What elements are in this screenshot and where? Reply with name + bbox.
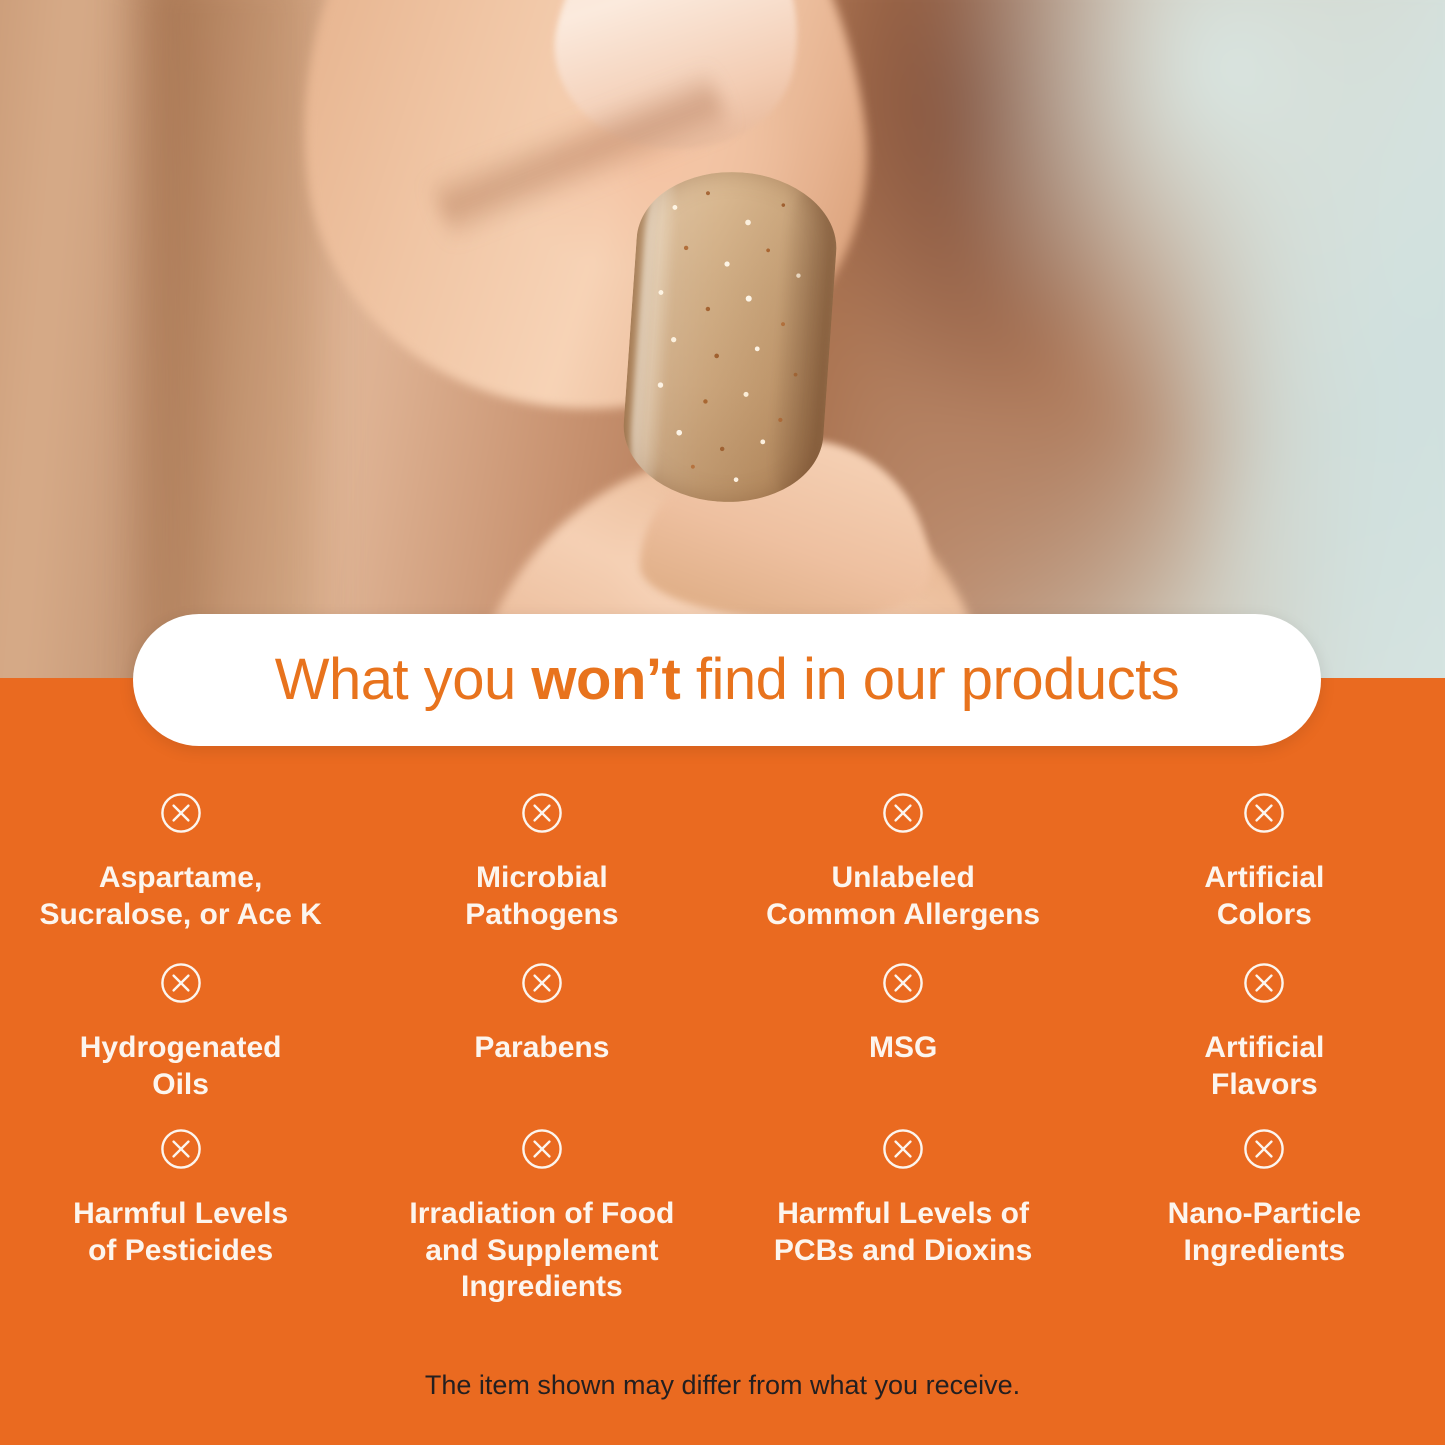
tablet-body	[619, 165, 842, 508]
title-banner: What you won’t find in our products	[133, 614, 1321, 746]
circle-x-icon	[1243, 1128, 1285, 1170]
circle-x-icon	[1243, 962, 1285, 1004]
claims-panel: Aspartame, Sucralose, or Ace KMicrobial …	[0, 678, 1445, 1445]
title-emphasis: won’t	[531, 647, 680, 712]
claim-label: Irradiation of Food and Supplement Ingre…	[409, 1196, 674, 1306]
claim-label: Artificial Colors	[1204, 860, 1324, 933]
claim-label: Parabens	[474, 1030, 609, 1067]
claim-label: Unlabeled Common Allergens	[766, 860, 1040, 933]
claim-item: MSG	[723, 962, 1084, 1128]
claim-item: Microbial Pathogens	[361, 792, 722, 962]
circle-x-icon	[882, 792, 924, 834]
claim-item: Aspartame, Sucralose, or Ace K	[0, 792, 361, 962]
circle-x-icon	[160, 792, 202, 834]
circle-x-icon	[521, 792, 563, 834]
supplement-tablet	[619, 165, 842, 508]
circle-x-icon	[882, 1128, 924, 1170]
hero-photo	[0, 0, 1445, 690]
claim-item: Unlabeled Common Allergens	[723, 792, 1084, 962]
claim-item: Artificial Flavors	[1084, 962, 1445, 1128]
claim-label: Harmful Levels of PCBs and Dioxins	[774, 1196, 1032, 1269]
claim-item: Artificial Colors	[1084, 792, 1445, 962]
photo-forearm-shadow	[140, 0, 320, 690]
circle-x-icon	[160, 1128, 202, 1170]
circle-x-icon	[160, 962, 202, 1004]
claim-item: Nano-Particle Ingredients	[1084, 1128, 1445, 1308]
product-claims-infographic: Aspartame, Sucralose, or Ace KMicrobial …	[0, 0, 1445, 1445]
circle-x-icon	[521, 1128, 563, 1170]
claim-label: MSG	[869, 1030, 937, 1067]
circle-x-icon	[521, 962, 563, 1004]
claim-label: Nano-Particle Ingredients	[1168, 1196, 1361, 1269]
claim-item: Harmful Levels of PCBs and Dioxins	[723, 1128, 1084, 1308]
claim-label: Microbial Pathogens	[465, 860, 618, 933]
claim-item: Parabens	[361, 962, 722, 1128]
claim-label: Artificial Flavors	[1204, 1030, 1324, 1103]
page-title: What you won’t find in our products	[275, 651, 1179, 709]
claims-grid: Aspartame, Sucralose, or Ace KMicrobial …	[0, 792, 1445, 1308]
claim-item: Irradiation of Food and Supplement Ingre…	[361, 1128, 722, 1308]
claim-label: Harmful Levels of Pesticides	[73, 1196, 288, 1269]
circle-x-icon	[1243, 792, 1285, 834]
title-part-2: find in our products	[680, 647, 1179, 712]
disclaimer-text: The item shown may differ from what you …	[0, 1370, 1445, 1401]
claim-item: Harmful Levels of Pesticides	[0, 1128, 361, 1308]
claim-item: Hydrogenated Oils	[0, 962, 361, 1128]
circle-x-icon	[882, 962, 924, 1004]
title-part-1: What you	[275, 647, 532, 712]
claim-label: Hydrogenated Oils	[80, 1030, 282, 1103]
claim-label: Aspartame, Sucralose, or Ace K	[39, 860, 321, 933]
